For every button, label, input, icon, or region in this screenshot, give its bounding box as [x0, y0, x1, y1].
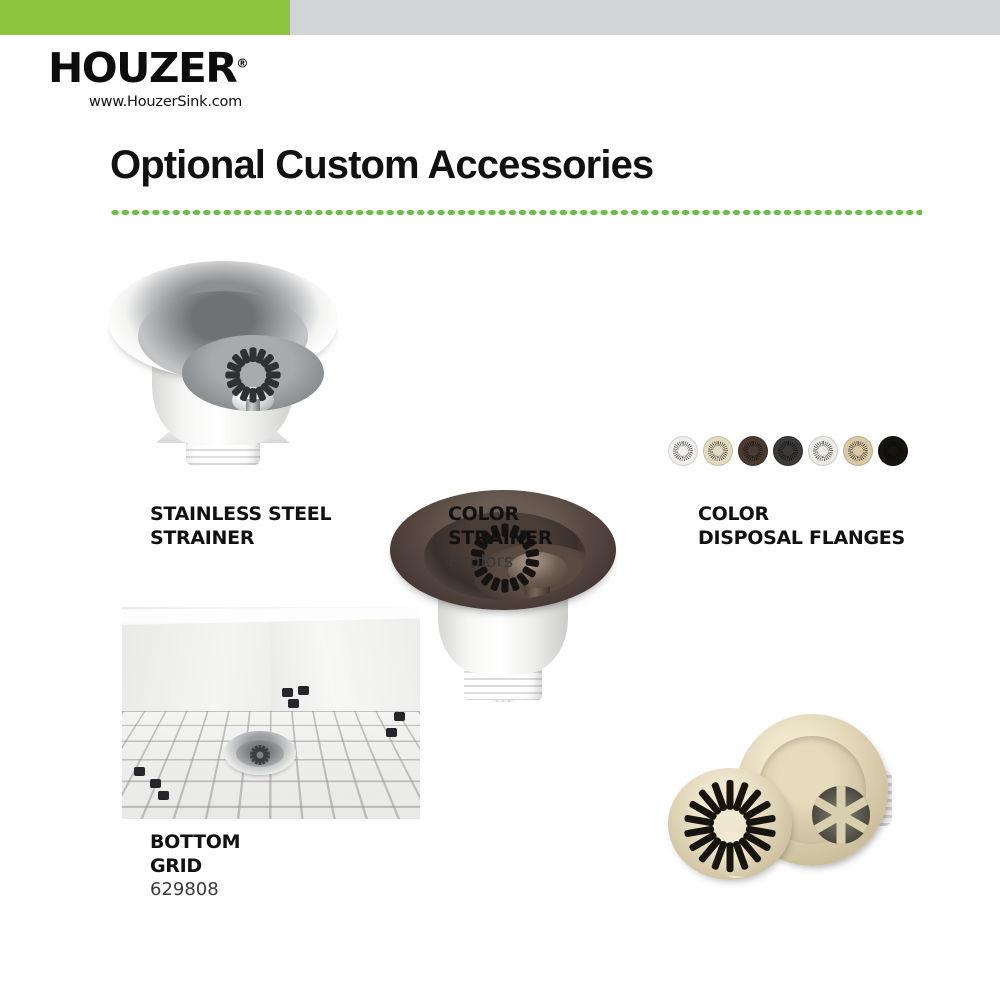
caption-text-block: STAINLESS STEEL STRAINER	[150, 500, 331, 550]
flange-basket-strainer	[668, 768, 792, 880]
dotted-divider	[110, 209, 922, 216]
swatch-core	[783, 446, 793, 456]
caption-text-block: COLOR STRAINER 8colors	[448, 500, 552, 574]
swatch-core	[888, 446, 898, 456]
caption-bottom-grid: BOTTOM GRID 629808	[122, 828, 240, 906]
logo-wordmark: HOUZER®	[48, 48, 316, 89]
color-swatch-sand-beige[interactable]	[843, 436, 873, 466]
swatch-core	[853, 446, 863, 456]
registered-trademark-icon: ®	[236, 56, 248, 70]
grid-foot	[158, 791, 169, 800]
grid-foot	[134, 767, 145, 776]
caption-line-2: STRAINER	[150, 526, 331, 550]
swatch-core	[713, 446, 723, 456]
flange-hub	[812, 786, 870, 844]
product-image-stainless-steel-strainer	[108, 245, 338, 475]
caption-text-block: COLOR DISPOSAL FLANGES	[698, 500, 905, 550]
caption-line-1: COLOR	[698, 502, 905, 526]
color-swatch-black[interactable]	[878, 436, 908, 466]
caption-line-1: BOTTOM	[150, 830, 240, 854]
strainer-slot	[502, 579, 509, 593]
product-image-color-disposal-flanges	[660, 708, 900, 938]
caption-subtext: 8colors	[448, 550, 552, 574]
caption-line-1: COLOR	[448, 502, 552, 526]
basin-drain	[224, 731, 296, 775]
strainer-basket	[182, 335, 324, 411]
product-image-bottom-grid	[122, 607, 420, 819]
logo-wordmark-text: HOUZER	[48, 44, 236, 92]
caption-stainless-steel-strainer: STAINLESS STEEL STRAINER	[122, 500, 331, 570]
header-band-green	[0, 0, 290, 35]
grid-foot	[288, 699, 299, 708]
color-swatch-biscuit[interactable]	[703, 436, 733, 466]
grid-foot	[394, 712, 405, 721]
color-swatch-slate-graphite[interactable]	[773, 436, 803, 466]
color-swatch-mocha[interactable]	[738, 436, 768, 466]
caption-color-disposal-flanges: COLOR DISPOSAL FLANGES	[670, 500, 905, 570]
basin-drain-basket	[236, 740, 284, 767]
caption-line-2: GRID	[150, 854, 240, 878]
swatch-core	[678, 446, 688, 456]
caption-line-2: DISPOSAL FLANGES	[698, 526, 905, 550]
caption-color-strainer: COLOR STRAINER 8colors	[420, 500, 552, 570]
swatch-core	[748, 446, 758, 456]
grid-foot	[298, 686, 309, 695]
page-title: Optional Custom Accessories	[110, 143, 653, 188]
strainer-slot	[727, 780, 734, 810]
strainer-bowl	[138, 291, 308, 381]
caption-line-2: STRAINER	[448, 526, 552, 550]
grid-foot	[386, 728, 397, 737]
strainer-slot	[727, 842, 734, 872]
header-band	[0, 0, 1000, 35]
grid-foot	[282, 688, 293, 697]
grid-foot	[150, 779, 161, 788]
color-swatch-pearl-white[interactable]	[808, 436, 838, 466]
strainer-rim	[108, 261, 338, 379]
color-swatch-white[interactable]	[668, 436, 698, 466]
header-band-gray	[290, 0, 1000, 35]
brand-logo: HOUZER® www.HouzerSink.com	[48, 48, 308, 110]
color-swatch-row[interactable]	[668, 436, 908, 466]
caption-text-block: BOTTOM GRID 629808	[150, 828, 240, 902]
caption-model-number: 629808	[150, 878, 240, 902]
logo-website-url: www.HouzerSink.com	[48, 94, 308, 110]
swatch-core	[818, 446, 828, 456]
caption-line-1: STAINLESS STEEL	[150, 502, 331, 526]
